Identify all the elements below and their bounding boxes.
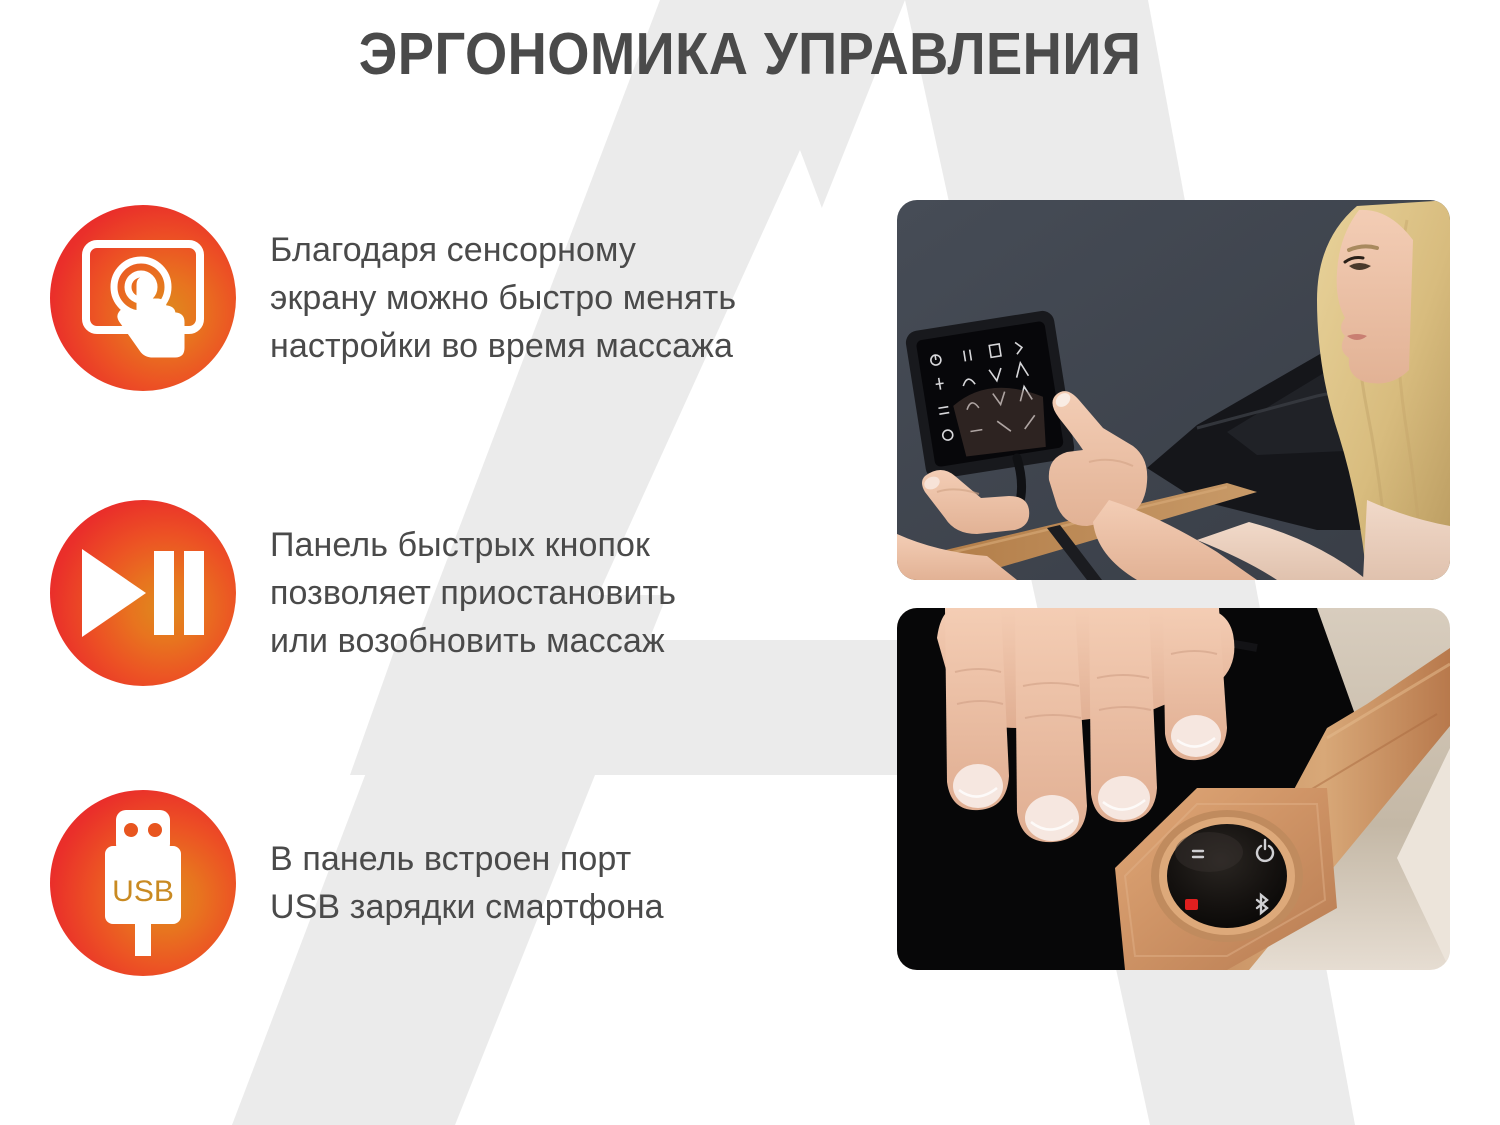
feature-text-touchscreen: Благодаря сенсорному экрану можно быстро… — [270, 226, 736, 371]
play-pause-icon — [80, 547, 206, 639]
infographic-slide: ЭРГОНОМИКА УПРАВЛЕНИЯ Благодаря сенсорно… — [0, 0, 1500, 1125]
usb-plug-icon: USB — [91, 808, 195, 958]
usb-label: USB — [112, 875, 174, 908]
feature-text-usb: В панель встроен порт USB зарядки смартф… — [270, 835, 664, 932]
touchscreen-badge — [50, 205, 236, 391]
photo-woman-with-tablet-remote — [897, 200, 1450, 580]
feature-row-touchscreen: Благодаря сенсорному экрану можно быстро… — [50, 205, 736, 391]
play-pause-badge — [50, 500, 236, 686]
feature-text-play-pause: Панель быстрых кнопок позволяет приостан… — [270, 521, 676, 666]
feature-row-usb: USB В панель встроен порт USB зарядки см… — [50, 790, 664, 976]
feature-row-play-pause: Панель быстрых кнопок позволяет приостан… — [50, 500, 676, 686]
page-title: ЭРГОНОМИКА УПРАВЛЕНИЯ — [60, 24, 1440, 86]
touchscreen-hand-icon — [81, 238, 205, 358]
photo-armrest-control-panel — [897, 608, 1450, 970]
usb-badge: USB — [50, 790, 236, 976]
